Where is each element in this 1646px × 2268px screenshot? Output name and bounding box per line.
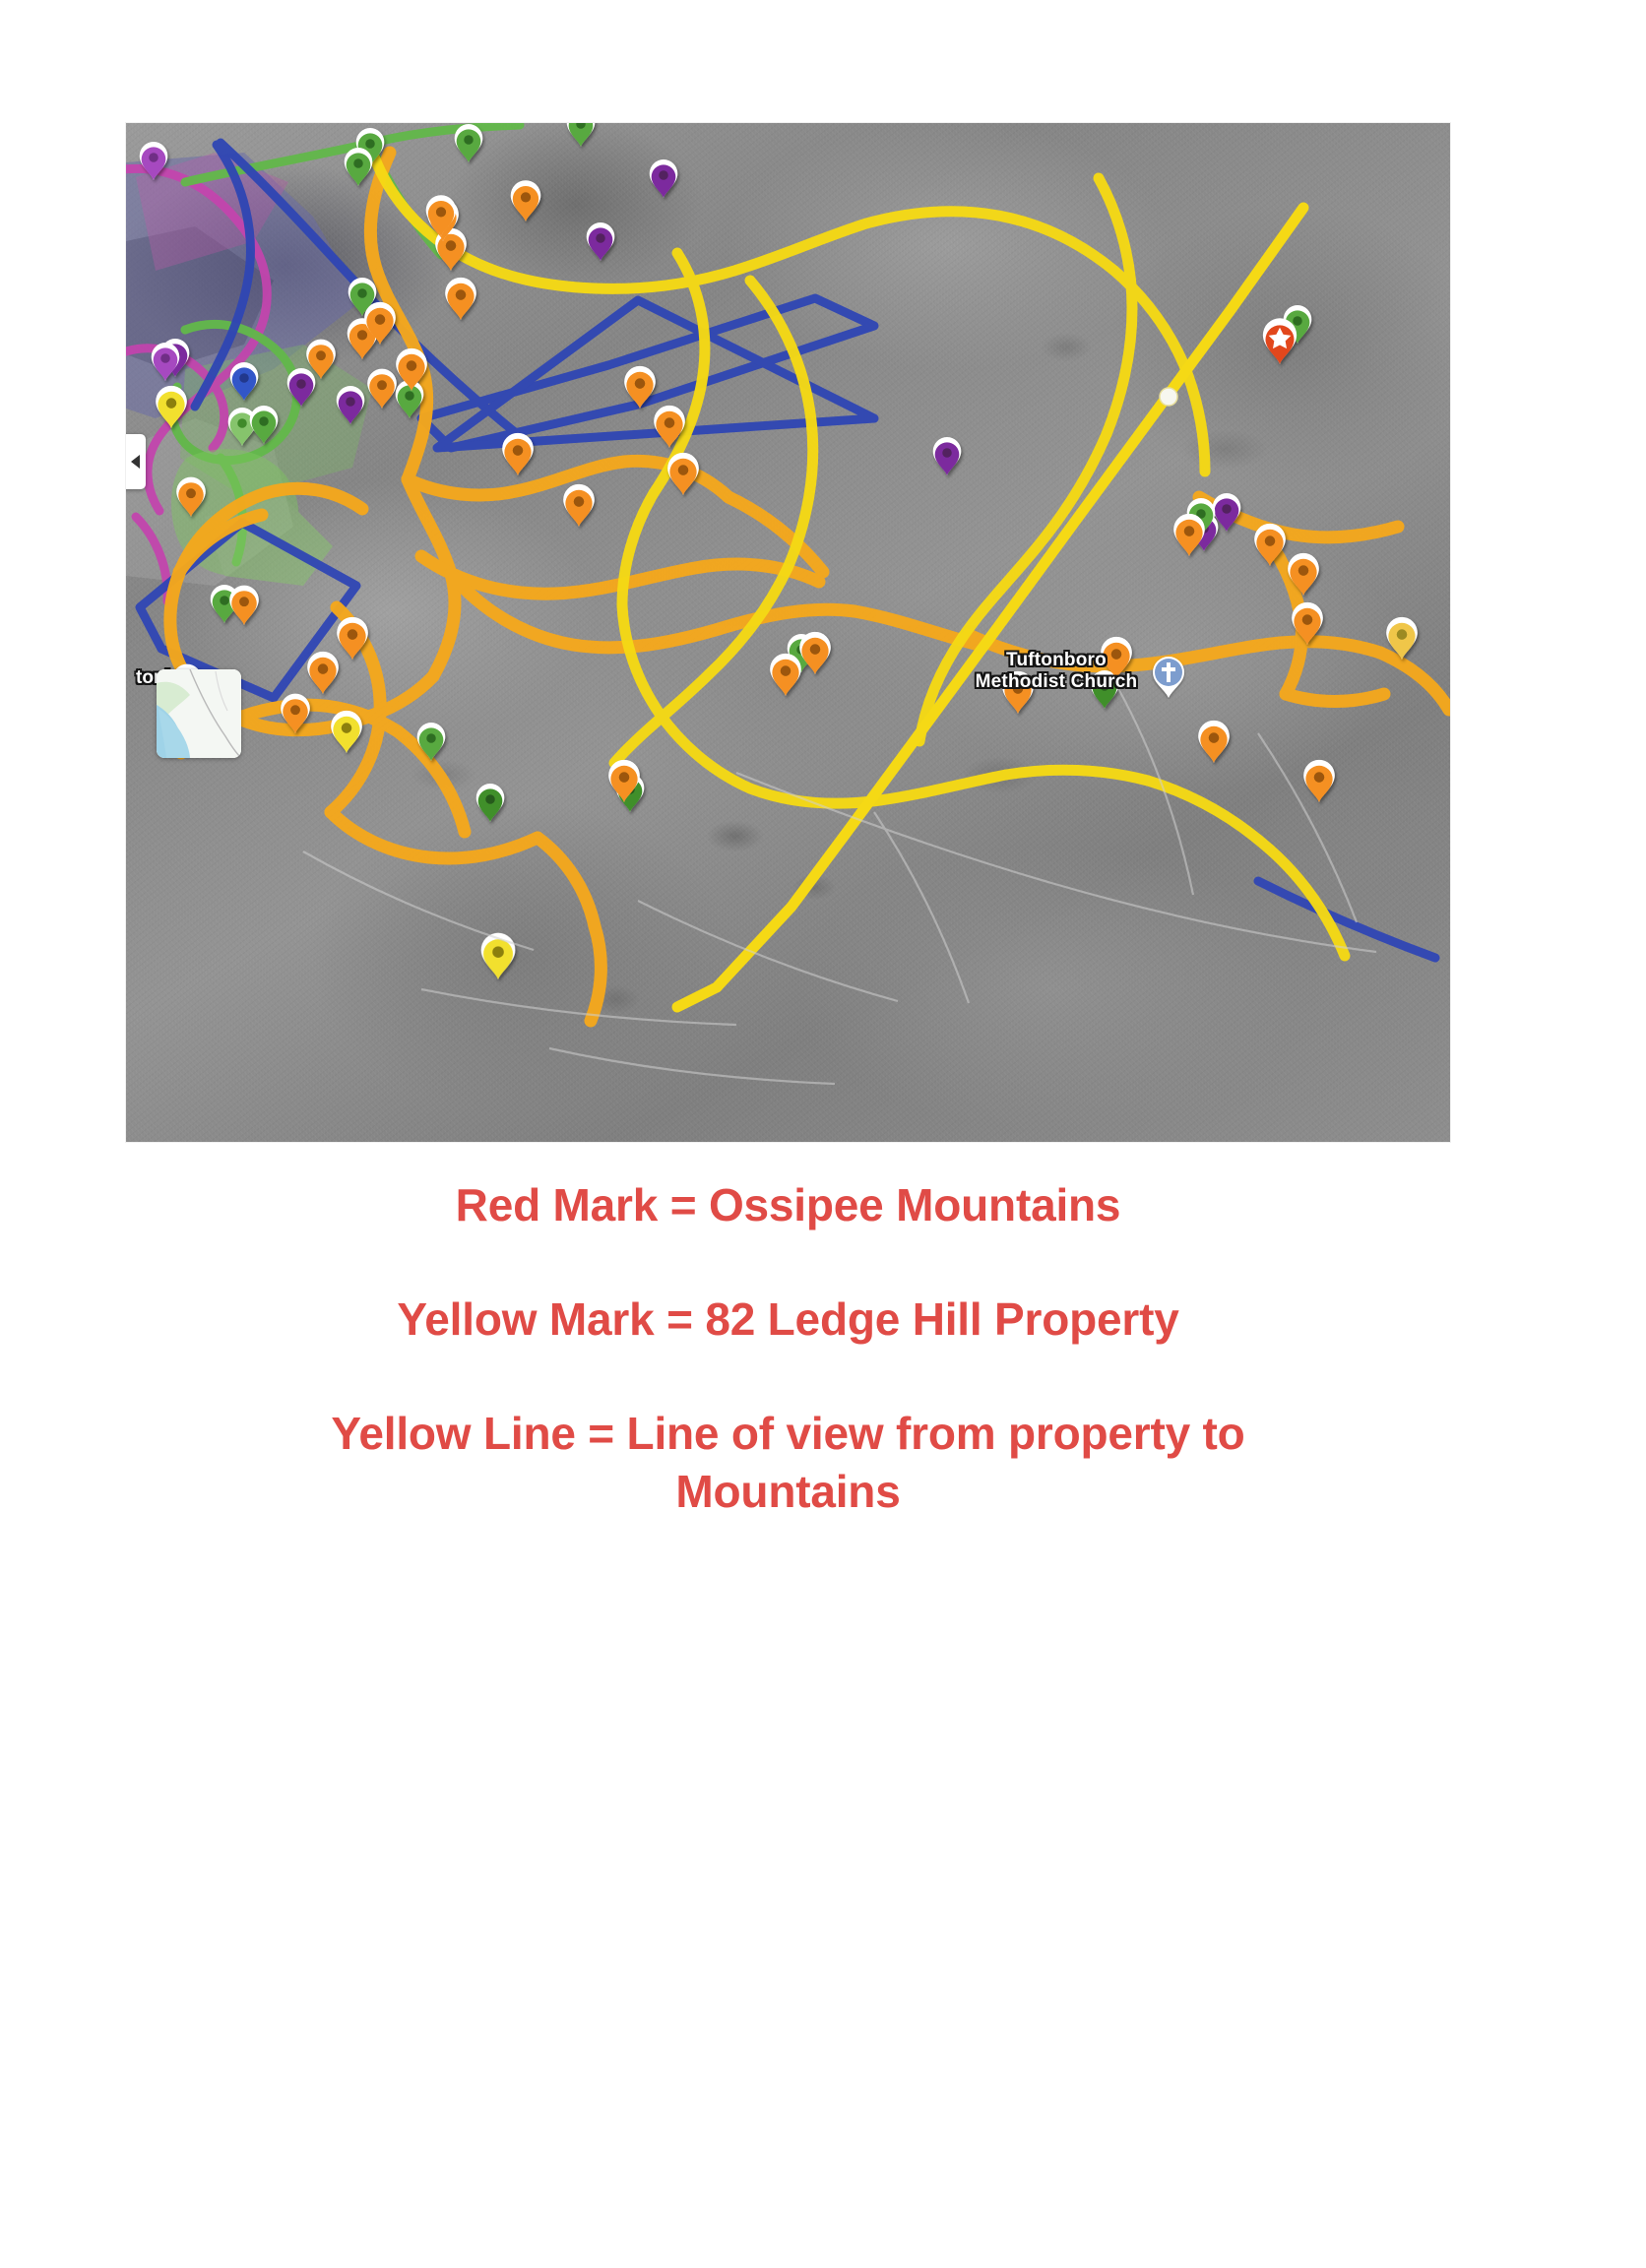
marker-green: [455, 124, 483, 162]
marker-orange: [563, 484, 595, 527]
map-overlay-layer: [126, 123, 1450, 1142]
marker-orange: [502, 433, 534, 475]
marker-orange: [667, 453, 699, 495]
marker-orange: [367, 369, 397, 409]
marker-green: [567, 123, 596, 147]
map-screenshot[interactable]: Tuftonboro Methodist Church tonboro: [126, 123, 1450, 1142]
marker-yellow: [331, 711, 362, 753]
marker-green: [476, 784, 505, 822]
mini-map-graphic: [157, 669, 241, 758]
caption-red-mark: Red Mark = Ossipee Mountains: [126, 1176, 1450, 1235]
caption-yellow-line: Yellow Line = Line of view from property…: [331, 1405, 1246, 1523]
document-page: Tuftonboro Methodist Church tonboro Red …: [0, 0, 1646, 2268]
marker-orange: [1173, 514, 1205, 556]
marker-red-star: [1263, 318, 1297, 364]
line-midpoint-handle: [1160, 388, 1177, 406]
yellow-route-lines: [374, 157, 1345, 956]
marker-purple: [933, 437, 962, 475]
marker-purple: [650, 159, 678, 198]
marker-orange: [229, 586, 259, 625]
marker-orange: [799, 632, 831, 674]
marker-orange: [307, 652, 339, 694]
marker-yellow-property: [481, 933, 516, 979]
caption-yellow-mark: Yellow Mark = 82 Ledge Hill Property: [395, 1291, 1182, 1350]
marker-purple: [587, 222, 615, 261]
overview-mini-map[interactable]: [157, 669, 241, 758]
marker-green: [345, 148, 373, 186]
marker-orange: [1198, 721, 1230, 763]
marker-orange: [1002, 671, 1034, 714]
chevron-left-icon: [131, 455, 140, 469]
blue-parcel-boundary: [140, 143, 1435, 958]
collapse-panel-button[interactable]: [126, 434, 146, 489]
church-icon[interactable]: [1151, 656, 1186, 699]
marker-orange: [511, 180, 541, 221]
marker-green: [1091, 670, 1119, 709]
marker-orange: [445, 278, 476, 320]
marker-orange: [770, 654, 801, 696]
caption-block: Red Mark = Ossipee Mountains Yellow Mark…: [126, 1176, 1450, 1522]
marker-orange: [1303, 760, 1335, 802]
